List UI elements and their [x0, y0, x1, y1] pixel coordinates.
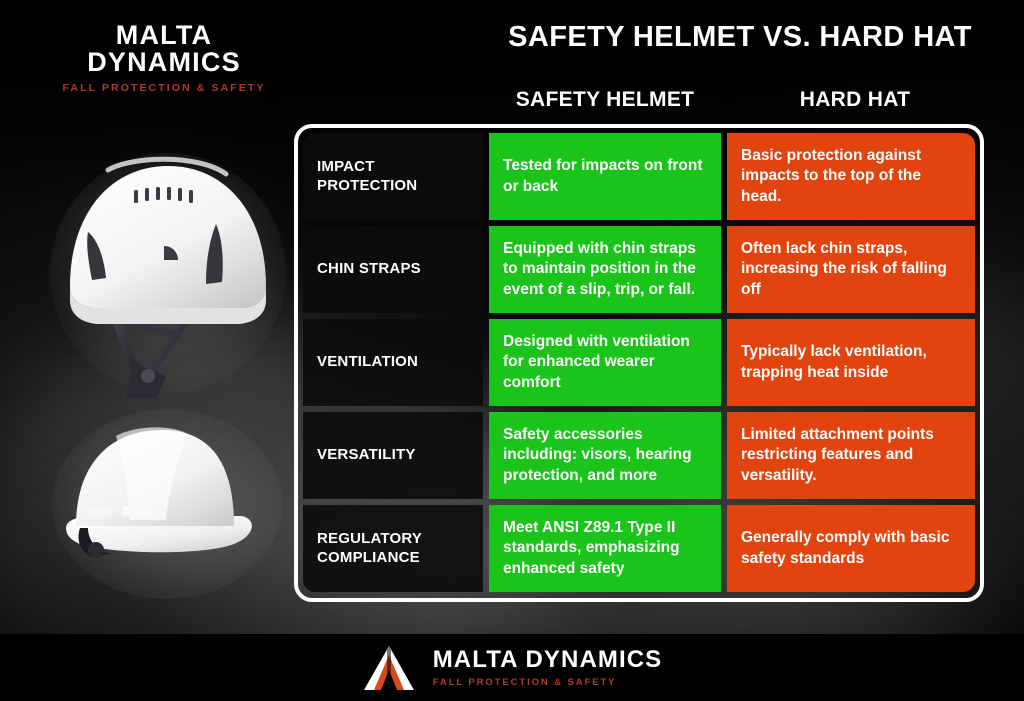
hard-hat-cell: Often lack chin straps, increasing the r… — [727, 226, 975, 313]
hard-hat-cell: Typically lack ventilation, trapping hea… — [727, 319, 975, 406]
safety-helmet-cell: Meet ANSI Z89.1 Type II standards, empha… — [489, 505, 721, 592]
safety-helmet-image — [48, 148, 288, 398]
feature-label-cell: CHIN STRAPS — [303, 226, 483, 313]
hard-hat-cell: Limited attachment points restricting fe… — [727, 412, 975, 499]
brand-tagline: FALL PROTECTION & SAFETY — [44, 83, 284, 94]
table-row: REGULATORY COMPLIANCE Meet ANSI Z89.1 Ty… — [303, 505, 975, 592]
brand-wordmark: MALTA DYNAMICS — [44, 22, 284, 76]
footer-brand-text: MALTA DYNAMICS FALL PROTECTION & SAFETY — [433, 648, 663, 688]
hard-hat-cell: Generally comply with basic safety stand… — [727, 505, 975, 592]
feature-label-cell: VERSATILITY — [303, 412, 483, 499]
footer-wordmark: MALTA DYNAMICS — [433, 648, 663, 672]
safety-helmet-cell: Designed with ventilation for enhanced w… — [489, 319, 721, 406]
feature-label-cell: REGULATORY COMPLIANCE — [303, 505, 483, 592]
footer-bar: MALTA DYNAMICS FALL PROTECTION & SAFETY — [0, 634, 1024, 701]
table-row: VERSATILITY Safety accessories including… — [303, 412, 975, 499]
hard-hat-image — [52, 404, 282, 599]
table-row: CHIN STRAPS Equipped with chin straps to… — [303, 226, 975, 313]
safety-helmet-cell: Tested for impacts on front or back — [489, 133, 721, 220]
column-header-hard-hat: HARD HAT — [735, 88, 975, 112]
feature-label-cell: VENTILATION — [303, 319, 483, 406]
header-brand-logo: MALTA DYNAMICS FALL PROTECTION & SAFETY — [44, 22, 284, 94]
table-row: VENTILATION Designed with ventilation fo… — [303, 319, 975, 406]
page-title: SAFETY HELMET VS. HARD HAT — [470, 22, 1010, 54]
safety-helmet-cell: Safety accessories including: visors, he… — [489, 412, 721, 499]
feature-label-cell: IMPACT PROTECTION — [303, 133, 483, 220]
comparison-table: IMPACT PROTECTION Tested for impacts on … — [294, 124, 984, 602]
safety-helmet-cell: Equipped with chin straps to maintain po… — [489, 226, 721, 313]
malta-dynamics-chevron-logo-icon — [362, 643, 416, 693]
hard-hat-cell: Basic protection against impacts to the … — [727, 133, 975, 220]
column-header-safety-helmet: SAFETY HELMET — [480, 88, 730, 112]
footer-tagline: FALL PROTECTION & SAFETY — [433, 678, 663, 688]
table-row: IMPACT PROTECTION Tested for impacts on … — [303, 133, 975, 220]
